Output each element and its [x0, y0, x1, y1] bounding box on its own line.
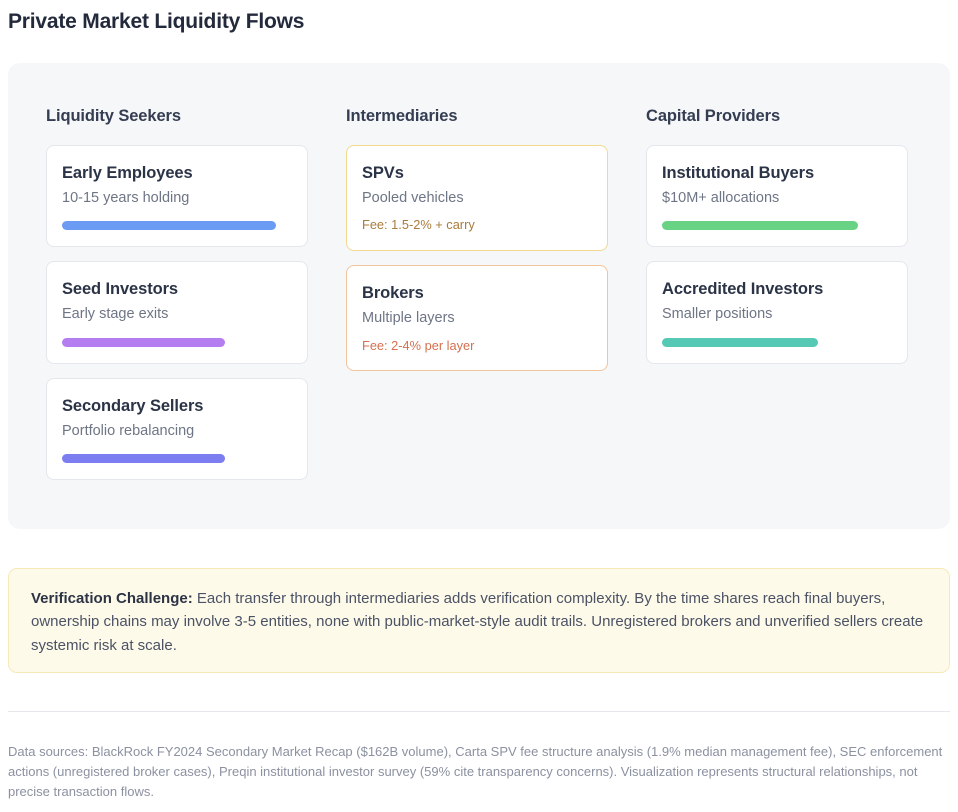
card-title: SPVs [362, 163, 592, 184]
card-institutional-buyers[interactable]: Institutional Buyers $10M+ allocations [646, 145, 908, 247]
card-bar [62, 338, 225, 347]
card-subtitle: Multiple layers [362, 309, 592, 328]
card-title: Institutional Buyers [662, 163, 892, 184]
card-title: Brokers [362, 283, 592, 304]
column-title: Liquidity Seekers [46, 107, 308, 126]
column-intermediaries: Intermediaries SPVs Pooled vehicles Fee:… [346, 107, 608, 529]
card-title: Early Employees [62, 163, 292, 184]
card-bar [62, 454, 225, 463]
column-liquidity-seekers: Liquidity Seekers Early Employees 10-15 … [46, 107, 308, 529]
callout-label: Verification Challenge: [31, 590, 193, 607]
column-title: Intermediaries [346, 107, 608, 126]
card-brokers[interactable]: Brokers Multiple layers Fee: 2-4% per la… [346, 265, 608, 371]
card-subtitle: $10M+ allocations [662, 189, 892, 208]
card-title: Seed Investors [62, 279, 292, 300]
card-subtitle: Smaller positions [662, 305, 892, 324]
card-fee: Fee: 1.5-2% + carry [362, 217, 592, 234]
card-bar-track [62, 221, 292, 230]
footer-data-sources: Data sources: BlackRock FY2024 Secondary… [8, 742, 950, 801]
card-bar [62, 221, 276, 230]
column-capital-providers: Capital Providers Institutional Buyers $… [646, 107, 908, 529]
page-title: Private Market Liquidity Flows [8, 10, 304, 34]
card-bar-track [62, 338, 292, 347]
card-bar-track [62, 454, 292, 463]
liquidity-flow-infographic: Private Market Liquidity Flows Liquidity… [0, 0, 958, 812]
footer-divider [8, 711, 950, 712]
verification-challenge-callout: Verification Challenge: Each transfer th… [8, 568, 950, 673]
card-subtitle: Portfolio rebalancing [62, 422, 292, 441]
card-bar [662, 338, 818, 347]
card-fee: Fee: 2-4% per layer [362, 338, 592, 355]
flow-panel: Liquidity Seekers Early Employees 10-15 … [8, 63, 950, 529]
card-seed-investors[interactable]: Seed Investors Early stage exits [46, 261, 308, 363]
column-title: Capital Providers [646, 107, 908, 126]
card-subtitle: Early stage exits [62, 305, 292, 324]
card-bar-track [662, 221, 892, 230]
card-title: Accredited Investors [662, 279, 892, 300]
card-title: Secondary Sellers [62, 396, 292, 417]
card-subtitle: Pooled vehicles [362, 189, 592, 208]
card-subtitle: 10-15 years holding [62, 189, 292, 208]
callout-text: Verification Challenge: Each transfer th… [31, 587, 927, 657]
card-bar [662, 221, 858, 230]
card-accredited-investors[interactable]: Accredited Investors Smaller positions [646, 261, 908, 363]
card-secondary-sellers[interactable]: Secondary Sellers Portfolio rebalancing [46, 378, 308, 480]
card-early-employees[interactable]: Early Employees 10-15 years holding [46, 145, 308, 247]
card-spvs[interactable]: SPVs Pooled vehicles Fee: 1.5-2% + carry [346, 145, 608, 251]
card-bar-track [662, 338, 892, 347]
flow-columns: Liquidity Seekers Early Employees 10-15 … [8, 63, 950, 529]
